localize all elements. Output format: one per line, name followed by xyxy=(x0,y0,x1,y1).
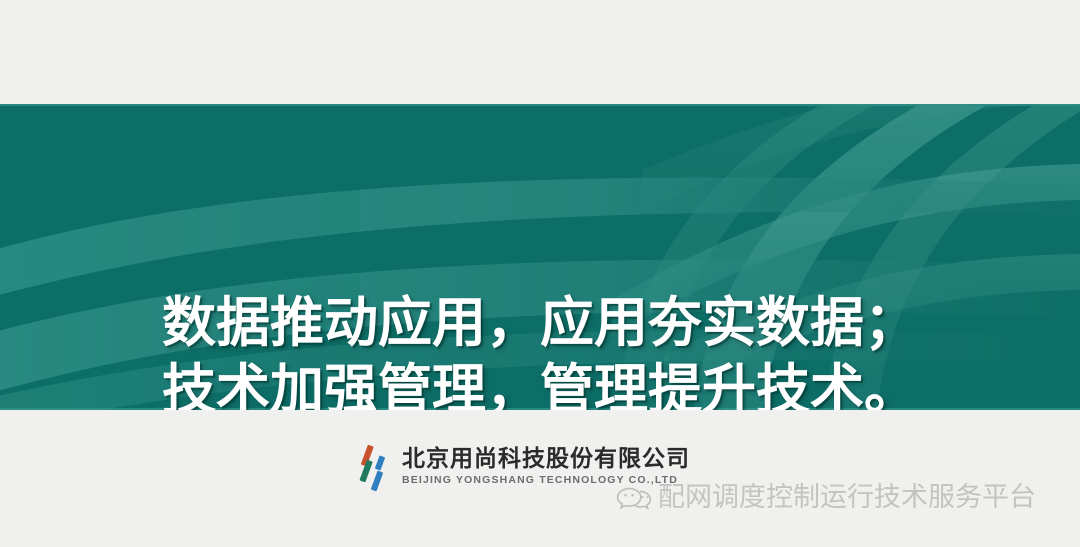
watermark-label: 配网调度控制运行技术服务平台 xyxy=(658,483,1036,513)
hero-banner: 数据推动应用，应用夯实数据； 技术加强管理，管理提升技术。 xyxy=(0,104,1080,410)
wechat-watermark: 配网调度控制运行技术服务平台 xyxy=(616,482,1036,513)
banner-top-edge xyxy=(0,104,1080,106)
logo-text-block: 北京用尚科技股份有限公司 BEIJING YONGSHANG TECHNOLOG… xyxy=(402,444,690,487)
headline-line-1: 数据推动应用，应用夯实数据； xyxy=(0,290,1080,357)
wechat-icon xyxy=(616,482,652,513)
page-title: 数据推动应用，应用夯实数据； 技术加强管理，管理提升技术。 xyxy=(0,290,1080,410)
footer-area: 北京用尚科技股份有限公司 BEIJING YONGSHANG TECHNOLOG… xyxy=(0,410,1080,547)
company-name-cn: 北京用尚科技股份有限公司 xyxy=(402,447,690,472)
yongshang-slash-mark-icon xyxy=(352,444,396,494)
headline-line-2: 技术加强管理，管理提升技术。 xyxy=(0,357,1080,410)
